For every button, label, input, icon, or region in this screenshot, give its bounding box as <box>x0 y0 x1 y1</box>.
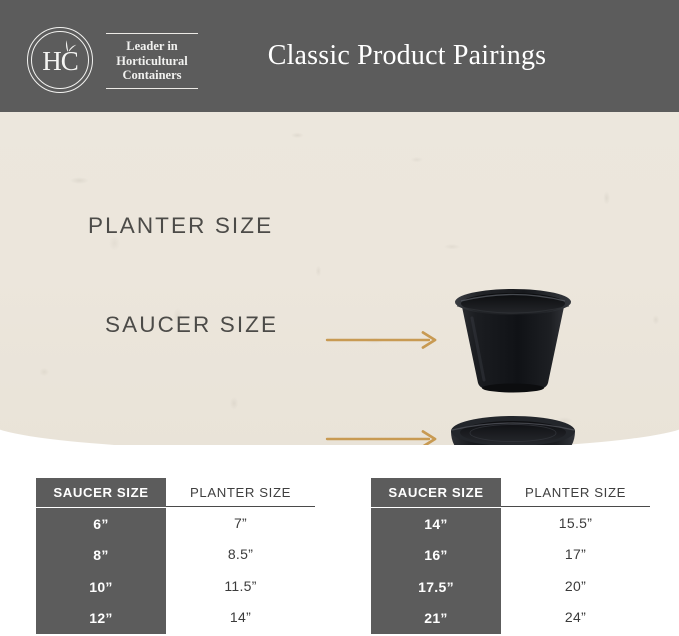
page-header: HC Leader in Horticultural Containers Cl… <box>0 0 679 112</box>
saucer-size-column: 6” 8” 10” 12” <box>36 507 166 634</box>
planter-size-label: PLANTER SIZE <box>88 213 273 239</box>
saucer-size-label-row: SAUCER SIZE <box>105 312 278 338</box>
table-cell: 14” <box>166 602 315 634</box>
column-header-planter-size: PLANTER SIZE <box>166 478 315 507</box>
brand-lockup: HC Leader in Horticultural Containers <box>26 26 198 96</box>
table-cell: 17” <box>501 539 650 571</box>
black-planter-pot-icon <box>448 284 578 394</box>
table-cell: 6” <box>36 508 166 540</box>
table-cell: 8” <box>36 540 166 572</box>
planter-size-label-row: PLANTER SIZE <box>88 213 273 239</box>
table-cell: 20” <box>501 570 650 602</box>
table-cell: 24” <box>501 602 650 634</box>
brand-tagline: Leader in Horticultural Containers <box>106 33 198 89</box>
table-cell: 14” <box>371 508 501 540</box>
page-title-text: Classic Product Pairings <box>268 40 547 72</box>
hero-textured-background <box>0 112 679 445</box>
column-header-planter-size: PLANTER SIZE <box>501 478 650 507</box>
table-body: 6” 8” 10” 12” 7” 8.5” 11.5” 14” <box>36 507 315 634</box>
table-body: 14” 16” 17.5” 21” 15.5” 17” 20” 24” <box>371 507 650 634</box>
size-chart-tables: SAUCER SIZE PLANTER SIZE 6” 8” 10” 12” 7… <box>0 478 679 636</box>
table-cell: 8.5” <box>166 539 315 571</box>
column-header-saucer-size: SAUCER SIZE <box>371 478 501 507</box>
table-cell: 11.5” <box>166 570 315 602</box>
table-cell: 16” <box>371 540 501 572</box>
size-table-large: SAUCER SIZE PLANTER SIZE 14” 16” 17.5” 2… <box>371 478 650 634</box>
size-table-small: SAUCER SIZE PLANTER SIZE 6” 8” 10” 12” 7… <box>36 478 315 634</box>
hc-circle-logo-icon: HC <box>26 26 96 96</box>
black-saucer-tray-icon <box>446 413 580 445</box>
table-cell: 10” <box>36 571 166 603</box>
table-cell: 15.5” <box>501 507 650 539</box>
saucer-size-column: 14” 16” 17.5” 21” <box>371 507 501 634</box>
saucer-right-arrow-icon <box>325 429 443 445</box>
table-cell: 7” <box>166 507 315 539</box>
table-cell: 21” <box>371 603 501 635</box>
column-header-saucer-size: SAUCER SIZE <box>36 478 166 507</box>
table-cell: 17.5” <box>371 571 501 603</box>
table-header-row: SAUCER SIZE PLANTER SIZE <box>371 478 650 507</box>
logo-monogram: HC <box>26 46 94 76</box>
hero-section: PLANTER SIZE SAUCER SIZE <box>0 112 679 445</box>
table-cell: 12” <box>36 603 166 635</box>
planter-right-arrow-icon <box>325 330 443 350</box>
planter-size-column: 7” 8.5” 11.5” 14” <box>166 507 315 634</box>
table-header-row: SAUCER SIZE PLANTER SIZE <box>36 478 315 507</box>
saucer-size-label: SAUCER SIZE <box>105 312 278 338</box>
planter-size-column: 15.5” 17” 20” 24” <box>501 507 650 634</box>
